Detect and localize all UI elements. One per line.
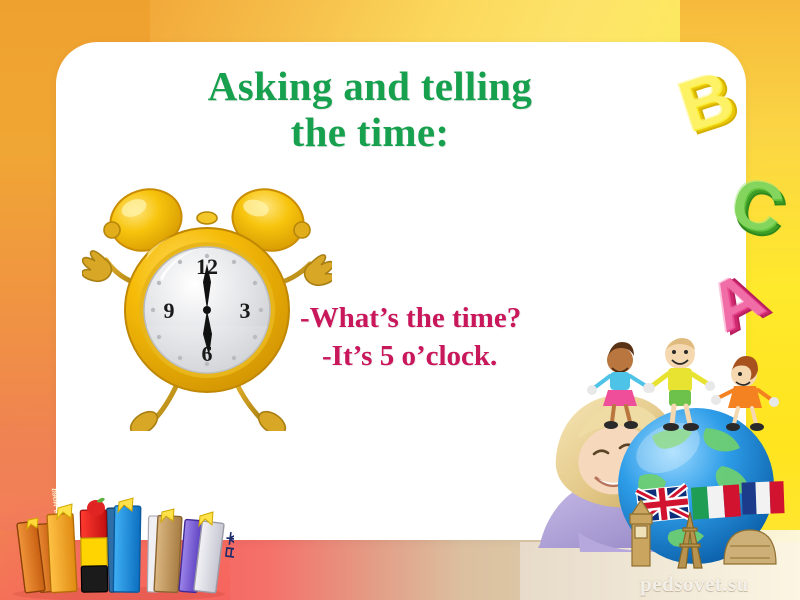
book-label-japanese: 日本 (223, 530, 234, 561)
language-books: Українська мова English Deutsch Русский … (4, 478, 234, 600)
flag-italy (691, 484, 741, 519)
page-title: Asking and telling the time: (90, 64, 650, 156)
dialogue-question: -What’s the time? (300, 300, 630, 338)
flag-france (741, 481, 784, 514)
letter-a-decoration: A A A (698, 262, 782, 342)
watermark: pedsovet.su (640, 572, 749, 597)
title-line-2: the time: (291, 109, 450, 155)
svg-text:B: B (668, 55, 742, 147)
svg-text:C: C (723, 161, 791, 249)
letter-c-decoration: C C C (720, 168, 800, 252)
alarm-clock-icon: 12 3 6 9 (82, 186, 332, 431)
clock-numeral-3: 3 (240, 298, 251, 323)
slide-canvas: B B B C C C A A A Asking and telling the… (0, 0, 800, 600)
letter-b-decoration: B B B (668, 62, 754, 148)
girl-with-globe-photo (520, 336, 800, 600)
clock-numeral-9: 9 (164, 298, 175, 323)
title-line-1: Asking and telling (208, 63, 532, 109)
